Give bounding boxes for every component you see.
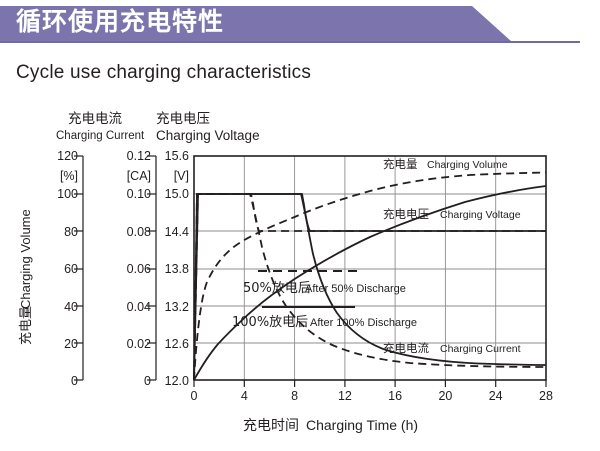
x-tick-16: 16 bbox=[388, 389, 402, 403]
annotation-current-en: Charging Current bbox=[440, 343, 521, 355]
x-tick-24: 24 bbox=[489, 389, 503, 403]
x-tick-4: 4 bbox=[241, 389, 248, 403]
x-tick-8: 8 bbox=[291, 389, 298, 403]
y-tick-current-0: 0 bbox=[144, 374, 151, 388]
annotation-volume-cn: 充电量 bbox=[383, 157, 418, 171]
axis-group-headers: 充电电流 Charging Current 充电电压 Charging Volt… bbox=[56, 111, 260, 143]
y-tick-volume-0: 0 bbox=[71, 374, 78, 388]
x-tick-28: 28 bbox=[539, 389, 553, 403]
y-axis-current-unit: [CA] bbox=[127, 169, 151, 183]
x-tick-12: 12 bbox=[338, 389, 352, 403]
annotation-volume-en: Charging Volume bbox=[427, 159, 508, 171]
y-tick-voltage-150: 15.0 bbox=[165, 187, 189, 201]
annotation-voltage-cn: 充电电压 bbox=[383, 207, 429, 221]
x-axis-label-cn: 充电时间 bbox=[243, 418, 299, 434]
legend-label-50-cn: 50%放电后 bbox=[243, 281, 311, 296]
y-axis-label-cn: 充电量 bbox=[18, 306, 34, 345]
axis-header-current-en: Charging Current bbox=[56, 130, 145, 142]
axis-header-voltage-en: Charging Voltage bbox=[156, 128, 260, 143]
y-tick-voltage-138: 13.8 bbox=[165, 262, 189, 276]
header-banner: 循环使用充电特性 bbox=[0, 0, 600, 52]
x-axis-label-en: Charging Time (h) bbox=[306, 417, 418, 433]
y-tick-volume-20: 20 bbox=[64, 337, 78, 351]
x-tick-0: 0 bbox=[191, 389, 198, 403]
chart-figure: 充电电流 Charging Current 充电电压 Charging Volt… bbox=[0, 95, 600, 451]
y-tick-current-002: 0.02 bbox=[127, 337, 151, 351]
y-axis-volume-unit: [%] bbox=[60, 169, 78, 183]
y-tick-current-008: 0.08 bbox=[127, 225, 151, 239]
y-axis-voltage-unit: [V] bbox=[174, 169, 189, 183]
banner-underline bbox=[0, 41, 580, 43]
y-tick-voltage-156: 15.6 bbox=[165, 149, 189, 163]
y-tick-voltage-144: 14.4 bbox=[165, 225, 189, 239]
y-tick-voltage-126: 12.6 bbox=[165, 337, 189, 351]
axis-header-current-cn: 充电电流 bbox=[68, 111, 122, 127]
y-axis-label: 充电量 Charging Volume bbox=[18, 209, 34, 345]
y-axis-current: 0.12 [CA] 0.10 0.08 0.06 0.04 0.02 0 bbox=[127, 149, 156, 388]
y-tick-volume-80: 80 bbox=[64, 225, 78, 239]
y-axis-voltage: 15.6 [V] 15.0 14.4 13.8 13.2 12.6 12.0 bbox=[165, 149, 189, 388]
y-axis-label-en: Charging Volume bbox=[18, 209, 33, 309]
legend-label-100-en: After 100% Discharge bbox=[310, 317, 417, 329]
legend-label-100-cn: 100%放电后 bbox=[232, 315, 308, 330]
y-tick-current-004: 0.04 bbox=[127, 300, 151, 314]
annotation-current-cn: 充电电流 bbox=[383, 341, 429, 355]
annotation-voltage-en: Charging Voltage bbox=[440, 209, 521, 221]
subtitle: Cycle use charging characteristics bbox=[16, 62, 311, 84]
x-tick-20: 20 bbox=[438, 389, 452, 403]
page-title: 循环使用充电特性 bbox=[16, 7, 224, 37]
axis-header-voltage-cn: 充电电压 bbox=[156, 111, 210, 127]
y-tick-voltage-120: 12.0 bbox=[165, 374, 189, 388]
x-axis: 0 4 8 12 16 20 24 28 充电时间 Charging Time … bbox=[191, 380, 553, 434]
y-tick-voltage-132: 13.2 bbox=[165, 300, 189, 314]
plot-area: 充电量 Charging Volume 充电电压 Charging Voltag… bbox=[194, 156, 546, 380]
legend-label-50-en: After 50% Discharge bbox=[305, 283, 406, 295]
y-tick-volume-40: 40 bbox=[64, 300, 78, 314]
x-axis-ticks bbox=[194, 380, 546, 387]
y-axis-volume: 120 [%] 100 80 60 40 20 0 bbox=[57, 149, 83, 388]
